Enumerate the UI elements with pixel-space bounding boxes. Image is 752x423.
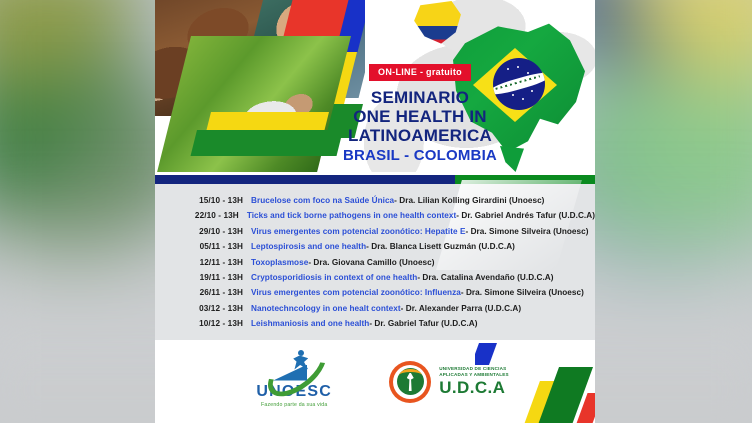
schedule-date: 05/11 - 13H xyxy=(155,242,251,251)
schedule-date: 26/11 - 13H xyxy=(155,288,251,297)
schedule-row: 29/10 - 13HVirus emergentes com potencia… xyxy=(155,227,595,242)
schedule-list: 15/10 - 13HBrucelose com foco na Saúde Ú… xyxy=(155,196,595,335)
schedule-topic: Virus emergentes com potencial zoonótico… xyxy=(251,288,461,297)
schedule-row: 10/12 - 13HLeishmaniosis and one health … xyxy=(155,319,595,334)
corner-blue-ribbon xyxy=(475,343,497,365)
unoesc-emblem-icon xyxy=(263,351,325,381)
poster-hero: ON-LINE - gratuito SEMINARIO ONE HEALTH … xyxy=(155,0,595,172)
schedule-topic: Virus emergentes com potencial zoonótico… xyxy=(251,227,465,236)
schedule-speaker: - Dr. Alexander Parra (U.D.C.A) xyxy=(401,304,521,313)
schedule-speaker: - Dra. Giovana Camillo (Unoesc) xyxy=(308,258,434,267)
poster-footer: UNOESC Fazendo parte da sua vida UNIVERS… xyxy=(155,340,595,423)
schedule-date: 19/11 - 13H xyxy=(155,273,251,282)
schedule-date: 10/12 - 13H xyxy=(155,319,251,328)
green-ribbon-shape xyxy=(191,130,343,156)
schedule-date: 03/12 - 13H xyxy=(155,304,251,313)
schedule-topic: Cryptosporidiosis in context of one heal… xyxy=(251,273,417,282)
poster-screenshot: ON-LINE - gratuito SEMINARIO ONE HEALTH … xyxy=(0,0,752,423)
schedule-date: 29/10 - 13H xyxy=(155,227,251,236)
schedule-speaker: - Dra. Blanca Lisett Guzmán (U.D.C.A) xyxy=(366,242,515,251)
udca-seal-inner xyxy=(397,368,424,395)
person-head xyxy=(298,350,304,356)
schedule-row: 03/12 - 13HNanotechncology in one healt … xyxy=(155,304,595,319)
brazil-star xyxy=(527,72,529,74)
online-free-badge: ON-LINE - gratuito xyxy=(369,64,471,81)
unoesc-tagline: Fazendo parte da sua vida xyxy=(241,402,347,408)
schedule-topic: Leishmaniosis and one health xyxy=(251,319,369,328)
schedule-topic: Nanotechncology in one healt context xyxy=(251,304,401,313)
schedule-date: 12/11 - 13H xyxy=(155,258,251,267)
title-line-3: LATINOAMERICA xyxy=(327,126,513,145)
schedule-date: 15/10 - 13H xyxy=(155,196,251,205)
unoesc-logo: UNOESC Fazendo parte da sua vida xyxy=(241,351,347,413)
schedule-speaker: - Dra. Lilian Kolling Girardini (Unoesc) xyxy=(394,196,544,205)
brazil-star xyxy=(517,66,519,68)
title-line-2: ONE HEALTH IN xyxy=(327,107,513,126)
page-title: SEMINARIO ONE HEALTH IN LATINOAMERICA xyxy=(327,88,513,145)
schedule-speaker: - Dra. Catalina Avendaño (U.D.C.A) xyxy=(417,273,553,282)
poster-card: ON-LINE - gratuito SEMINARIO ONE HEALTH … xyxy=(155,0,595,423)
colombia-flag-map xyxy=(411,0,463,52)
schedule-topic: Toxoplasmose xyxy=(251,258,308,267)
schedule-row: 22/10 - 13HTicks and tick borne pathogen… xyxy=(155,211,595,226)
schedule-row: 19/11 - 13HCryptosporidiosis in context … xyxy=(155,273,595,288)
schedule-speaker: - Dr. Gabriel Tafur (U.D.C.A) xyxy=(369,319,477,328)
schedule-row: 12/11 - 13HToxoplasmose - Dra. Giovana C… xyxy=(155,258,595,273)
schedule-speaker: - Dra. Simone Silveira (Unoesc) xyxy=(465,227,588,236)
schedule-topic: Ticks and tick borne pathogens in one he… xyxy=(247,211,456,220)
title-line-1: SEMINARIO xyxy=(327,88,513,107)
page-subtitle: BRASIL - COLOMBIA xyxy=(327,147,513,164)
schedule-topic: Leptospirosis and one health xyxy=(251,242,366,251)
udca-seal-icon xyxy=(389,361,431,403)
brazil-star xyxy=(531,90,533,92)
schedule-row: 15/10 - 13HBrucelose com foco na Saúde Ú… xyxy=(155,196,595,211)
divider-blue-segment xyxy=(155,175,455,184)
schedule-topic: Brucelose com foco na Saúde Única xyxy=(251,196,394,205)
brazil-star xyxy=(522,98,524,100)
schedule-row: 05/11 - 13HLeptospirosis and one health … xyxy=(155,242,595,257)
schedule-section: 15/10 - 13HBrucelose com foco na Saúde Ú… xyxy=(155,184,595,340)
person-body xyxy=(293,356,308,370)
schedule-speaker: - Dr. Gabriel Andrés Tafur (U.D.C.A) xyxy=(456,211,595,220)
schedule-date: 22/10 - 13H xyxy=(155,211,247,220)
unoesc-person-icon xyxy=(291,350,309,372)
corner-ribbon-decoration xyxy=(475,343,595,423)
headline-block: ON-LINE - gratuito SEMINARIO ONE HEALTH … xyxy=(327,62,513,164)
yellow-ribbon-shape xyxy=(206,112,329,132)
schedule-speaker: - Dra. Simone Silveira (Unoesc) xyxy=(461,288,584,297)
schedule-row: 26/11 - 13HVirus emergentes com potencia… xyxy=(155,288,595,303)
